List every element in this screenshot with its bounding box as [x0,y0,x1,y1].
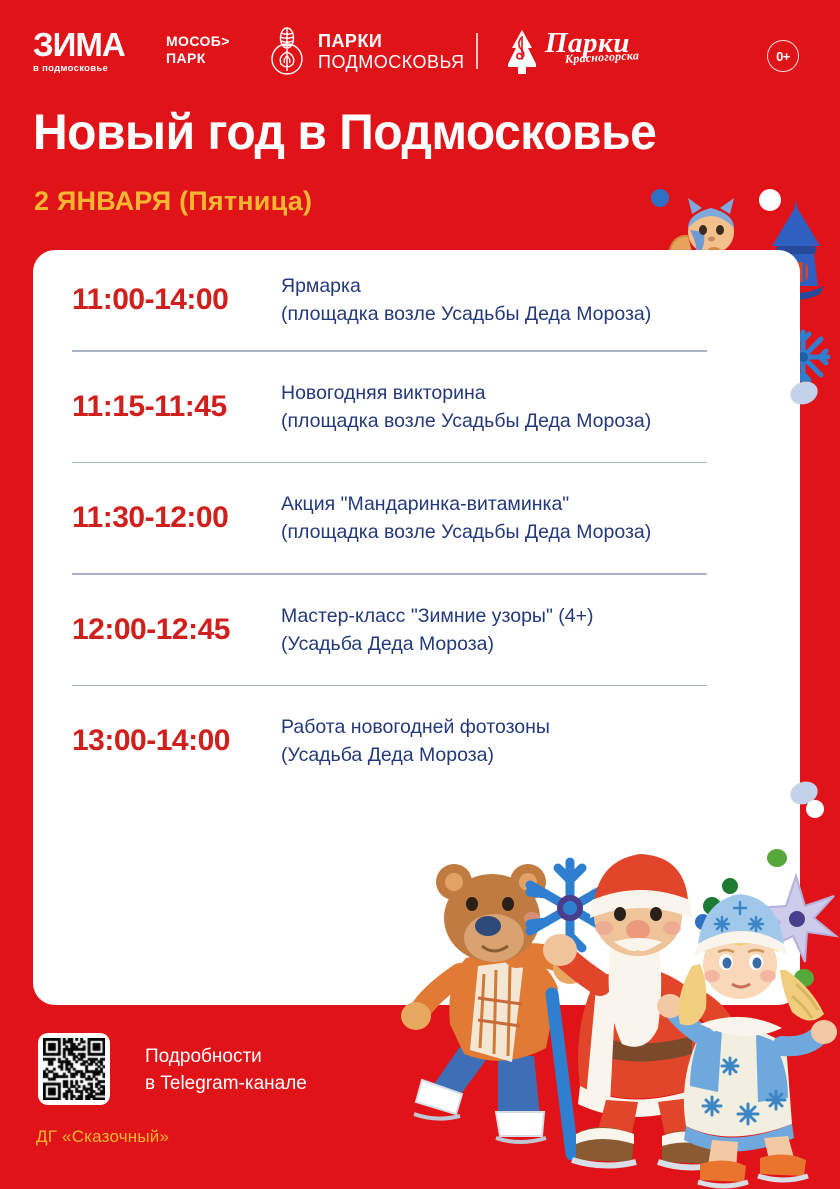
schedule-event-place: (Усадьба Деда Мороза) [281,630,594,658]
zima-logo: ЗИМА в подмосковье [33,30,155,74]
telegram-qr-code[interactable] [38,1033,110,1105]
schedule-event-name: Мастер-класс "Зимние узоры" (4+) [281,602,594,630]
date-subtitle: 2 ЯНВАРЯ (Пятница) [34,186,312,217]
schedule-row: 11:15-11:45 Новогодняя викторина (площад… [33,352,800,462]
schedule-description: Ярмарка (площадка возле Усадьбы Деда Мор… [281,272,651,328]
parki-krasnogorska-logo: Парки Красногорска [503,28,639,76]
logo-bar: ЗИМА в подмосковье МОСОБ> ПАРК [0,0,840,100]
schedule-event-place: (площадка возле Усадьбы Деда Мороза) [281,518,651,546]
zima-logo-subtitle: в подмосковье [33,63,155,74]
schedule-event-place: (Усадьба Деда Мороза) [281,741,550,769]
parki-podmoskovya-logo: ПАРКИ ПОДМОСКОВЬЯ [265,26,465,78]
schedule-description: Акция "Мандаринка-витаминка" (площадка в… [281,490,651,546]
schedule-row: 11:00-14:00 Ярмарка (площадка возле Усад… [33,250,800,350]
schedule-description: Работа новогодней фотозоны (Усадьба Деда… [281,713,550,769]
treble-clef-tree-icon [503,28,541,76]
mosobl-park-logo-line2: ПАРК [166,50,254,67]
venue-name: ДГ «Сказочный» [36,1127,169,1147]
page-title: Новый год в Подмосковье [33,104,791,160]
parki-krasnogorska-line2: Красногорска [565,48,640,67]
telegram-line-2: в Telegram-канале [145,1070,307,1097]
schedule-row: 12:00-12:45 Мастер-класс "Зимние узоры" … [33,575,800,685]
decor-dot-white-1 [806,800,824,818]
schedule-event-name: Акция "Мандаринка-витаминка" [281,490,651,518]
age-rating-badge: 0+ [767,40,799,72]
parki-krasnogorska-logo-text: Парки Красногорска [545,28,639,67]
parki-podmoskovya-line2: ПОДМОСКОВЬЯ [318,52,465,72]
telegram-info: Подробности в Telegram-канале [145,1043,307,1097]
poster: ЗИМА в подмосковье МОСОБ> ПАРК [0,0,840,1189]
schedule-list: 11:00-14:00 Ярмарка (площадка возле Усад… [33,250,800,796]
schedule-row: 13:00-14:00 Работа новогодней фотозоны (… [33,686,800,796]
schedule-card: 11:00-14:00 Ярмарка (площадка возле Усад… [33,250,800,1005]
schedule-row: 11:30-12:00 Акция "Мандаринка-витаминка"… [33,463,800,573]
logo-separator [476,33,478,69]
mosobl-park-logo: МОСОБ> ПАРК [166,33,254,67]
schedule-description: Мастер-класс "Зимние узоры" (4+) (Усадьб… [281,602,594,658]
schedule-event-name: Ярмарка [281,272,651,300]
schedule-time: 12:00-12:45 [33,613,281,647]
schedule-time: 11:00-14:00 [33,283,281,317]
parki-podmoskovya-logo-text: ПАРКИ ПОДМОСКОВЬЯ [318,31,465,73]
schedule-event-place: (площадка возле Усадьбы Деда Мороза) [281,407,651,435]
schedule-time: 11:15-11:45 [33,390,281,424]
schedule-event-place: (площадка возле Усадьбы Деда Мороза) [281,300,651,328]
schedule-time: 13:00-14:00 [33,724,281,758]
zima-logo-word: ЗИМА [33,30,155,60]
mosobl-park-logo-line1: МОСОБ> [166,33,254,50]
schedule-event-name: Новогодняя викторина [281,379,651,407]
parki-podmoskovya-line1: ПАРКИ [318,31,382,51]
schedule-event-name: Работа новогодней фотозоны [281,713,550,741]
pinecone-leaf-icon [265,26,309,78]
schedule-description: Новогодняя викторина (площадка возле Уса… [281,379,651,435]
telegram-line-1: Подробности [145,1043,307,1070]
schedule-time: 11:30-12:00 [33,501,281,535]
